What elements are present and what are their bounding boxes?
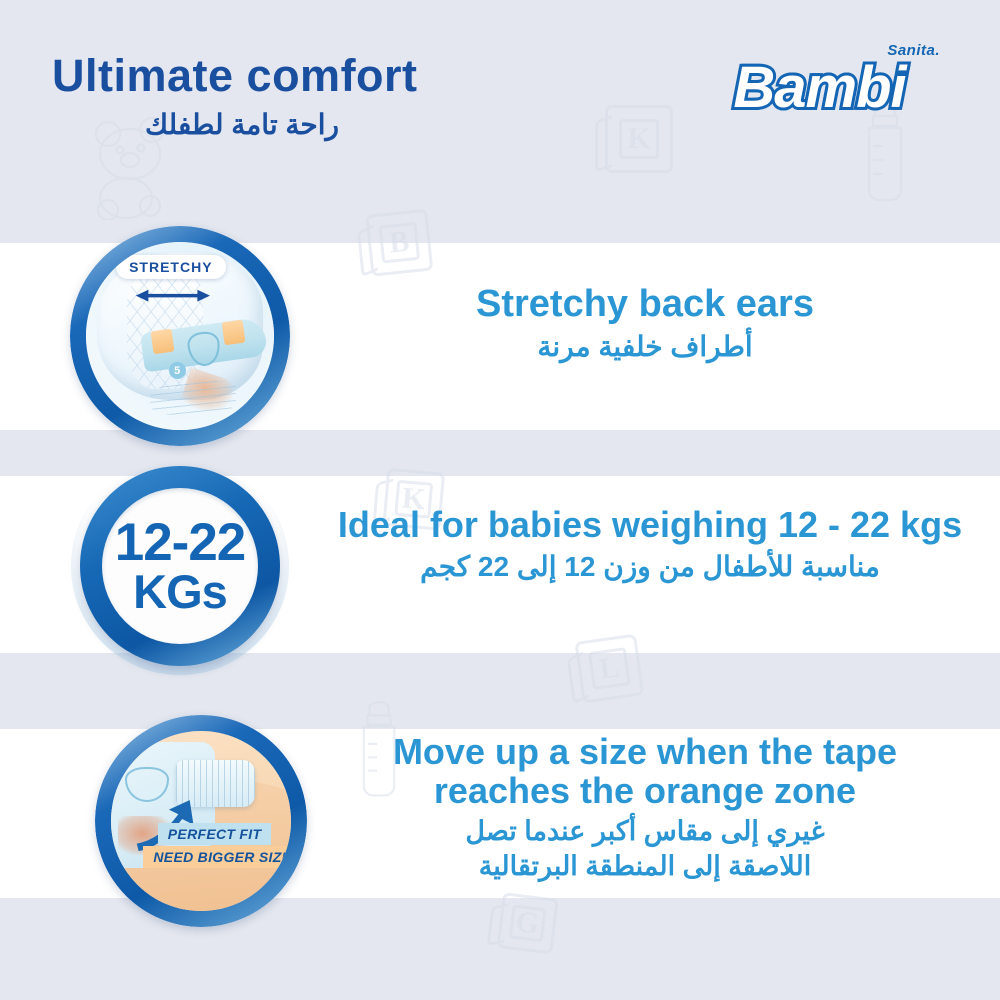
feature-text-en-line1: Move up a size when the tape [300,733,990,772]
watermark-block-b: B [365,209,427,271]
badge-weight-unit: KGs [133,568,227,615]
stretchy-photo-circle: 5 STRETCHY [70,226,290,446]
feature-media-stretchy: 5 STRETCHY [70,226,290,446]
diaper-size-marker: 5 [169,362,186,379]
feature-media-weight: 12-22 KGs [80,466,300,686]
feature-text-ar: مناسبة للأطفال من وزن 12 إلى 22 كجم [305,549,995,585]
circle-inner: 5 STRETCHY [86,242,274,430]
badge-weight-range: 12-22 [115,517,246,569]
feature-copy-weight: Ideal for babies weighing 12 - 22 kgs من… [305,506,995,585]
stretch-double-arrow-icon [124,289,222,303]
watermark-block-g: G [497,892,553,948]
label-need-bigger-size: NEED BIGGER SIZE [143,846,291,868]
feature-copy-orange-zone: Move up a size when the tape reaches the… [300,733,990,884]
diaper-tape-tab [150,329,174,354]
diaper-texture-lines [150,381,236,415]
weight-badge: 12-22 KGs [80,466,280,666]
diaper-tape-tab [222,320,246,345]
label-perfect-fit: PERFECT FIT [158,823,272,845]
feature-text-en: Ideal for babies weighing 12 - 22 kgs [305,506,995,545]
feature-text-en: Stretchy back ears [300,284,990,325]
feature-media-fit: PERFECT FIT NEED BIGGER SIZE [95,715,315,935]
feature-text-ar-line1: غيري إلى مقاس أكبر عندما تصل [300,814,990,849]
circle-inner: PERFECT FIT NEED BIGGER SIZE [111,731,291,911]
feature-text-ar-line2: اللاصقة إلى المنطقة البرتقالية [300,849,990,884]
brand-name-label: Bambi [712,52,927,124]
fit-illustration: PERFECT FIT NEED BIGGER SIZE [111,731,291,911]
feature-copy-stretchy: Stretchy back ears أطراف خلفية مرنة [300,284,990,365]
stretchy-label: STRETCHY [116,255,225,279]
watermark-block-k: K [605,105,667,167]
page-title-arabic: راحة تامة لطفلك [52,108,432,141]
fit-photo-circle: PERFECT FIT NEED BIGGER SIZE [95,715,307,927]
feature-text-en-line2: reaches the orange zone [300,772,990,811]
feature-text-ar: أطراف خلفية مرنة [300,329,990,365]
infographic-page: K B K L G [0,0,1000,1000]
watermark-block-l: L [574,634,637,697]
badge-face: 12-22 KGs [102,488,258,644]
brand-logo: Sanita. Bambi [712,40,942,130]
page-title: Ultimate comfort [52,50,418,102]
